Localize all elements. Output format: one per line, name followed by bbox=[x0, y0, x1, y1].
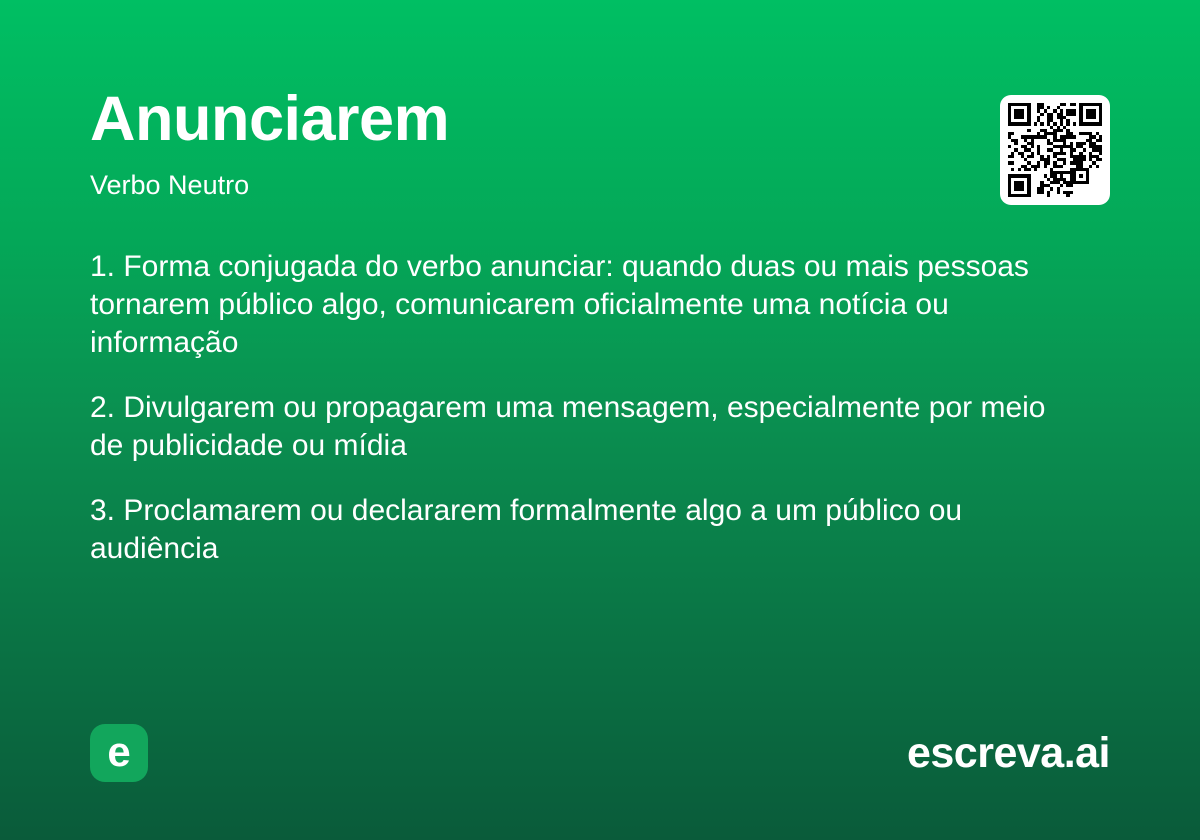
definition-item: 1. Forma conjugada do verbo anunciar: qu… bbox=[90, 248, 1075, 362]
definition-item: 3. Proclamarem ou declararem formalmente… bbox=[90, 492, 1075, 568]
definition-list: 1. Forma conjugada do verbo anunciar: qu… bbox=[90, 248, 1075, 568]
qr-code-panel[interactable] bbox=[1000, 95, 1110, 205]
brand-wordmark: escreva.ai bbox=[907, 732, 1110, 775]
qr-code-icon bbox=[1008, 103, 1102, 197]
card-footer: e escreva.ai bbox=[90, 724, 1110, 782]
heading-group: Anunciarem Verbo Neutro bbox=[90, 88, 449, 201]
word-class-label: Verbo Neutro bbox=[90, 169, 449, 201]
card-header: Anunciarem Verbo Neutro bbox=[90, 88, 1110, 205]
logo-letter: e bbox=[107, 731, 130, 773]
word-title: Anunciarem bbox=[90, 88, 449, 151]
definition-item: 2. Divulgarem ou propagarem uma mensagem… bbox=[90, 389, 1075, 465]
escreva-logo-icon[interactable]: e bbox=[90, 724, 148, 782]
dictionary-card: Anunciarem Verbo Neutro 1. Forma conjuga… bbox=[0, 0, 1200, 840]
